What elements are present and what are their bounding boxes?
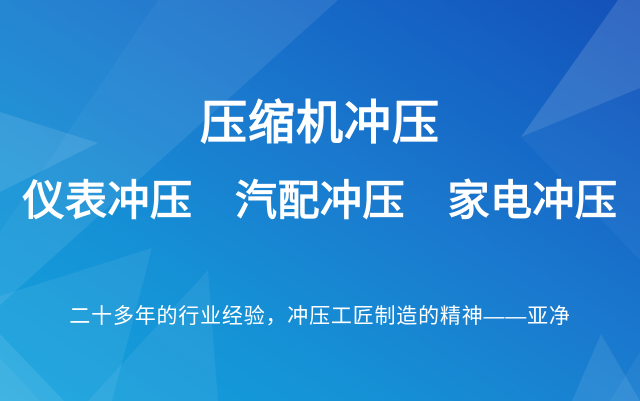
banner-headline: 压缩机冲压	[0, 99, 640, 146]
promo-banner: 压缩机冲压 仪表冲压 汽配冲压 家电冲压 二十多年的行业经验，冲压工匠制造的精神…	[0, 0, 640, 401]
banner-subheadline: 仪表冲压 汽配冲压 家电冲压	[0, 180, 640, 222]
banner-tagline: 二十多年的行业经验，冲压工匠制造的精神——亚净	[0, 306, 640, 327]
banner-text-layer: 压缩机冲压 仪表冲压 汽配冲压 家电冲压 二十多年的行业经验，冲压工匠制造的精神…	[0, 0, 640, 401]
